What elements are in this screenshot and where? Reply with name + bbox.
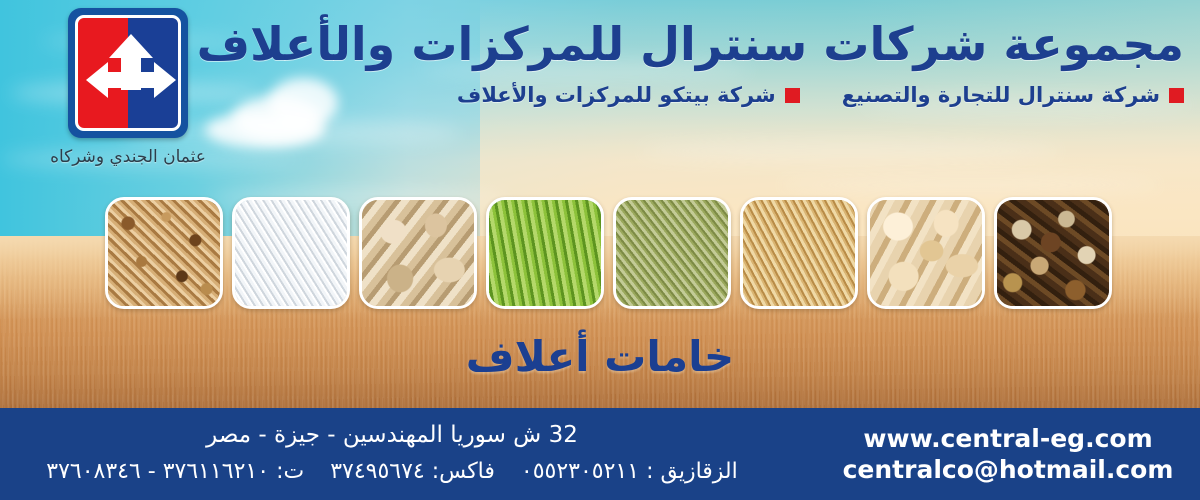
fish-meal-thumb [359,197,477,309]
company-item: شركة بيتكو للمركزات والأعلاف [457,83,800,107]
logo-caption: عثمان الجندي وشركاه [28,147,228,167]
fax-label: فاكس: [432,459,495,484]
products-headline: خامات أعلاف [0,332,1200,381]
wheat-bran-thumb [105,197,223,309]
contact-address-block: 32 ش سوريا المهندسين - جيزة - مصر الزقاز… [0,421,780,486]
website-link[interactable]: www.central-eg.com [816,423,1200,454]
page-title: مجموعة شركات سنترال للمركزات والأعلاف [264,18,1184,71]
branch-label: الزقازيق : [646,459,738,484]
arrow-glyph [78,18,181,131]
branch-number: ٠٥٥٢٣٠٥٢١١ [521,459,639,484]
three-way-arrow-logo-icon [68,8,188,138]
fax-phone: فاكس: ٣٧٤٩٥٦٧٤ [330,458,495,487]
company-name: شركة بيتكو للمركزات والأعلاف [457,83,776,107]
fax-number: ٣٧٤٩٥٦٧٤ [330,459,425,484]
red-square-bullet-icon [1169,88,1184,103]
phone-row: الزقازيق : ٠٥٥٢٣٠٥٢١١ فاكس: ٣٧٤٩٥٦٧٤ ت: … [14,458,770,487]
product-thumbnail-row [92,197,1112,309]
peanut-hulls-thumb [994,197,1112,309]
company-name: شركة سنترال للتجارة والتصنيع [842,83,1160,107]
contact-web-block: www.central-eg.com centralco@hotmail.com [780,423,1200,486]
company-list: شركة سنترال للتجارة والتصنيع شركة بيتكو … [264,83,1184,107]
green-fodder-thumb [486,197,604,309]
branch-phone: الزقازيق : ٠٥٥٢٣٠٥٢١١ [521,458,738,487]
company-item: شركة سنترال للتجارة والتصنيع [842,83,1184,107]
white-fibre-thumb [232,197,350,309]
red-square-bullet-icon [785,88,800,103]
header-text-block: مجموعة شركات سنترال للمركزات والأعلاف شر… [264,18,1184,107]
phone-numbers: ٣٧٦١١٦٢١٠ - ٣٧٦٠٨٣٤٦ [46,459,269,484]
contact-bar: www.central-eg.com centralco@hotmail.com… [0,408,1200,500]
alfalfa-hay-thumb [613,197,731,309]
phone-label: ت: [276,459,304,484]
address-text: 32 ش سوريا المهندسين - جيزة - مصر [14,421,770,451]
straw-hay-thumb [740,197,858,309]
advertising-banner: عثمان الجندي وشركاه مجموعة شركات سنترال … [0,0,1200,500]
email-link[interactable]: centralco@hotmail.com [816,454,1200,485]
cassava-chips-thumb [867,197,985,309]
main-phone: ت: ٣٧٦١١٦٢١٠ - ٣٧٦٠٨٣٤٦ [46,458,304,487]
